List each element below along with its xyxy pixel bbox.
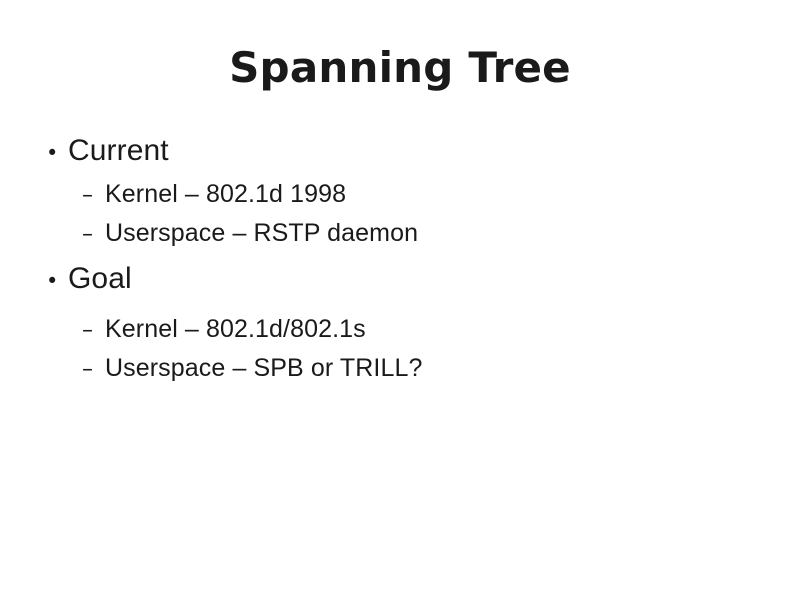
bullet-level2: – Kernel – 802.1d/802.1s (40, 311, 740, 349)
bullet-dash-icon: – (40, 352, 105, 388)
outline-group: • Goal – Kernel – 802.1d/802.1s – Usersp… (40, 259, 740, 388)
bullet-level1-label: Current (68, 131, 169, 171)
page-title: Spanning Tree (0, 44, 800, 91)
bullet-level2: – Kernel – 802.1d 1998 (40, 176, 740, 214)
slide-body: • Current – Kernel – 802.1d 1998 – Users… (40, 131, 740, 389)
bullet-level2-label: Userspace – SPB or TRILL? (105, 350, 422, 386)
bullet-level2-label: Kernel – 802.1d/802.1s (105, 311, 366, 347)
bullet-dash-icon: – (40, 217, 105, 253)
bullet-level2: – Userspace – RSTP daemon (40, 215, 740, 253)
outline-group: • Current – Kernel – 802.1d 1998 – Users… (40, 131, 740, 253)
bullet-level1-label: Goal (68, 259, 132, 299)
slide-canvas: Spanning Tree • Current – Kernel – 802.1… (0, 0, 800, 600)
spacer (40, 304, 740, 311)
bullet-level1: • Current (40, 131, 740, 173)
bullet-level2-label: Userspace – RSTP daemon (105, 215, 418, 251)
bullet-dot-icon: • (40, 261, 68, 301)
bullet-level1: • Goal (40, 259, 740, 301)
bullet-dash-icon: – (40, 178, 105, 214)
sub-bullet-list: – Kernel – 802.1d 1998 – Userspace – RST… (40, 176, 740, 253)
bullet-dot-icon: • (40, 133, 68, 173)
bullet-level2: – Userspace – SPB or TRILL? (40, 350, 740, 388)
bullet-level2-label: Kernel – 802.1d 1998 (105, 176, 346, 212)
sub-bullet-list: – Kernel – 802.1d/802.1s – Userspace – S… (40, 311, 740, 388)
bullet-dash-icon: – (40, 313, 105, 349)
